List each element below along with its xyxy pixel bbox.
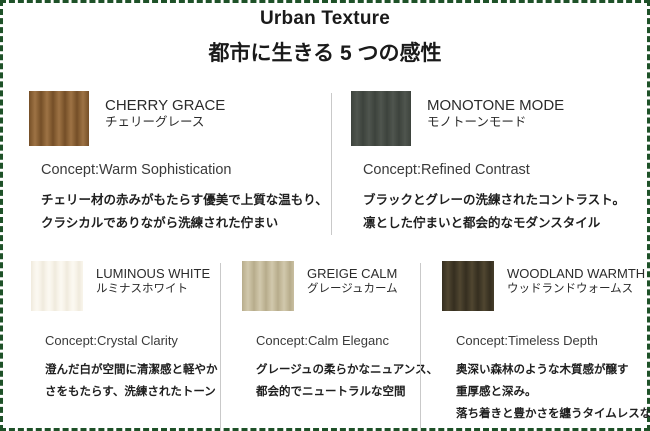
description-line: グレージュの柔らかなニュアンス、: [256, 360, 420, 382]
description-text: ブラックとグレーの洗練されたコントラスト。 凛とした佇まいと都会的なモダンスタイ…: [363, 189, 639, 235]
card-head: GREIGE CALM グレージュカーム: [242, 261, 420, 311]
wood-grain-texture: [351, 91, 411, 146]
texture-card-luminous-white[interactable]: LUMINOUS WHITE ルミナスホワイト Concept:Crystal …: [11, 261, 220, 426]
material-name-ja: グレージュカーム: [307, 283, 398, 297]
description-line: さをもたらす、洗練されたトーン: [45, 382, 220, 404]
card-names: WOODLAND WARMTH ウッドランドウォームス: [507, 261, 645, 297]
description-line: 澄んだ白が空間に清潔感と軽やか: [45, 360, 220, 382]
texture-row-1: CHERRY GRACE チェリーグレース Concept:Warm Sophi…: [11, 91, 639, 235]
concept-label: Concept:Warm Sophistication: [41, 162, 331, 178]
texture-card-greige-calm[interactable]: GREIGE CALM グレージュカーム Concept:Calm Elegan…: [220, 261, 420, 426]
material-name-en: CHERRY GRACE: [105, 97, 225, 114]
luminous-white-swatch: [31, 261, 83, 311]
texture-card-woodland-warmth[interactable]: WOODLAND WARMTH ウッドランドウォームス Concept:Time…: [420, 261, 639, 426]
material-name-ja: チェリーグレース: [105, 115, 225, 130]
description-line: 重厚感と深み。: [456, 382, 639, 404]
material-name-en: WOODLAND WARMTH: [507, 267, 645, 282]
texture-card-cherry-grace[interactable]: CHERRY GRACE チェリーグレース Concept:Warm Sophi…: [11, 91, 331, 235]
concept-label: Concept:Timeless Depth: [456, 333, 639, 348]
greige-swatch: [242, 261, 294, 311]
card-names: MONOTONE MODE モノトーンモード: [427, 91, 564, 130]
material-name-ja: ルミナスホワイト: [96, 283, 210, 297]
description-line: クラシカルでありながら洗練された佇まい: [41, 212, 331, 235]
description-line: ブラックとグレーの洗練されたコントラスト。: [363, 189, 639, 212]
page-title-ja: 都市に生きる 5 つの感性: [3, 42, 647, 65]
card-head: LUMINOUS WHITE ルミナスホワイト: [31, 261, 220, 311]
card-head: CHERRY GRACE チェリーグレース: [29, 91, 331, 146]
poster-header: Urban Texture 都市に生きる 5 つの感性: [3, 3, 647, 65]
texture-card-monotone-mode[interactable]: MONOTONE MODE モノトーンモード Concept:Refined C…: [331, 91, 639, 235]
description-text: チェリー材の赤みがもたらす優美で上質な温もり、 クラシカルでありながら洗練された…: [41, 189, 331, 235]
wood-grain-texture: [242, 261, 294, 311]
woodland-swatch: [442, 261, 494, 311]
material-name-ja: モノトーンモード: [427, 115, 564, 130]
description-line: 落ち着きと豊かさを纏うタイムレスな空間: [456, 404, 639, 426]
page-title-en: Urban Texture: [3, 9, 647, 30]
texture-row-2: LUMINOUS WHITE ルミナスホワイト Concept:Crystal …: [11, 261, 639, 426]
description-line: 凛とした佇まいと都会的なモダンスタイル: [363, 212, 639, 235]
description-text: グレージュの柔らかなニュアンス、 都会的でニュートラルな空間: [256, 360, 420, 404]
card-head: WOODLAND WARMTH ウッドランドウォームス: [442, 261, 639, 311]
material-name-ja: ウッドランドウォームス: [507, 283, 645, 297]
description-text: 澄んだ白が空間に清潔感と軽やか さをもたらす、洗練されたトーン: [45, 360, 220, 404]
wood-grain-texture: [29, 91, 89, 146]
description-text: 奥深い森林のような木質感が醸す 重厚感と深み。 落ち着きと豊かさを纏うタイムレス…: [456, 360, 639, 426]
description-line: チェリー材の赤みがもたらす優美で上質な温もり、: [41, 189, 331, 212]
material-name-en: GREIGE CALM: [307, 267, 398, 282]
poster-root: Urban Texture 都市に生きる 5 つの感性 CHERRY GRACE…: [0, 0, 650, 431]
card-names: LUMINOUS WHITE ルミナスホワイト: [96, 261, 210, 297]
concept-label: Concept:Refined Contrast: [363, 162, 639, 178]
monotone-swatch: [351, 91, 411, 146]
description-line: 都会的でニュートラルな空間: [256, 382, 420, 404]
card-names: GREIGE CALM グレージュカーム: [307, 261, 398, 297]
description-line: 奥深い森林のような木質感が醸す: [456, 360, 639, 382]
concept-label: Concept:Crystal Clarity: [45, 333, 220, 348]
material-name-en: LUMINOUS WHITE: [96, 267, 210, 282]
cherry-wood-swatch: [29, 91, 89, 146]
concept-label: Concept:Calm Eleganc: [256, 333, 420, 348]
wood-grain-texture: [442, 261, 494, 311]
wood-grain-texture: [31, 261, 83, 311]
card-head: MONOTONE MODE モノトーンモード: [351, 91, 639, 146]
material-name-en: MONOTONE MODE: [427, 97, 564, 114]
card-names: CHERRY GRACE チェリーグレース: [105, 91, 225, 130]
